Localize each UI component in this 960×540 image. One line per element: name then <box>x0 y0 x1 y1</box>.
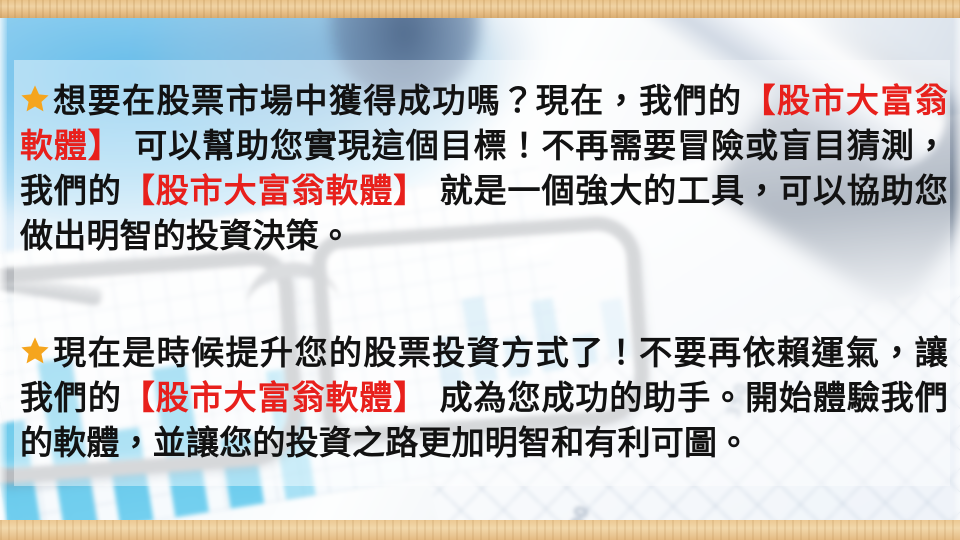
star-icon <box>20 336 50 366</box>
star-icon <box>20 84 50 114</box>
frame-edge-left <box>0 18 7 520</box>
paragraph-2-brand-1: 【股市大富翁軟體】 <box>122 378 427 417</box>
frame-bar-bottom <box>0 520 960 540</box>
paragraph-2: 現在是時候提升您的股票投資方式了！不要再依賴運氣，讓我們的【股市大富翁軟體】 成… <box>20 330 948 465</box>
frame-bar-top <box>0 0 960 18</box>
paragraph-1-run-1: 想要在股票市場中獲得成功嗎？現在，我們的 <box>52 81 743 120</box>
paragraph-1-brand-2: 【股市大富翁軟體】 <box>122 171 427 210</box>
promo-slide: 700 350 <box>0 0 960 540</box>
paragraph-1: 想要在股票市場中獲得成功嗎？現在，我們的【股市大富翁軟體】 可以幫助您實現這個目… <box>20 78 948 258</box>
frame-edge-right <box>953 18 960 520</box>
text-layer: 想要在股票市場中獲得成功嗎？現在，我們的【股市大富翁軟體】 可以幫助您實現這個目… <box>0 0 960 540</box>
